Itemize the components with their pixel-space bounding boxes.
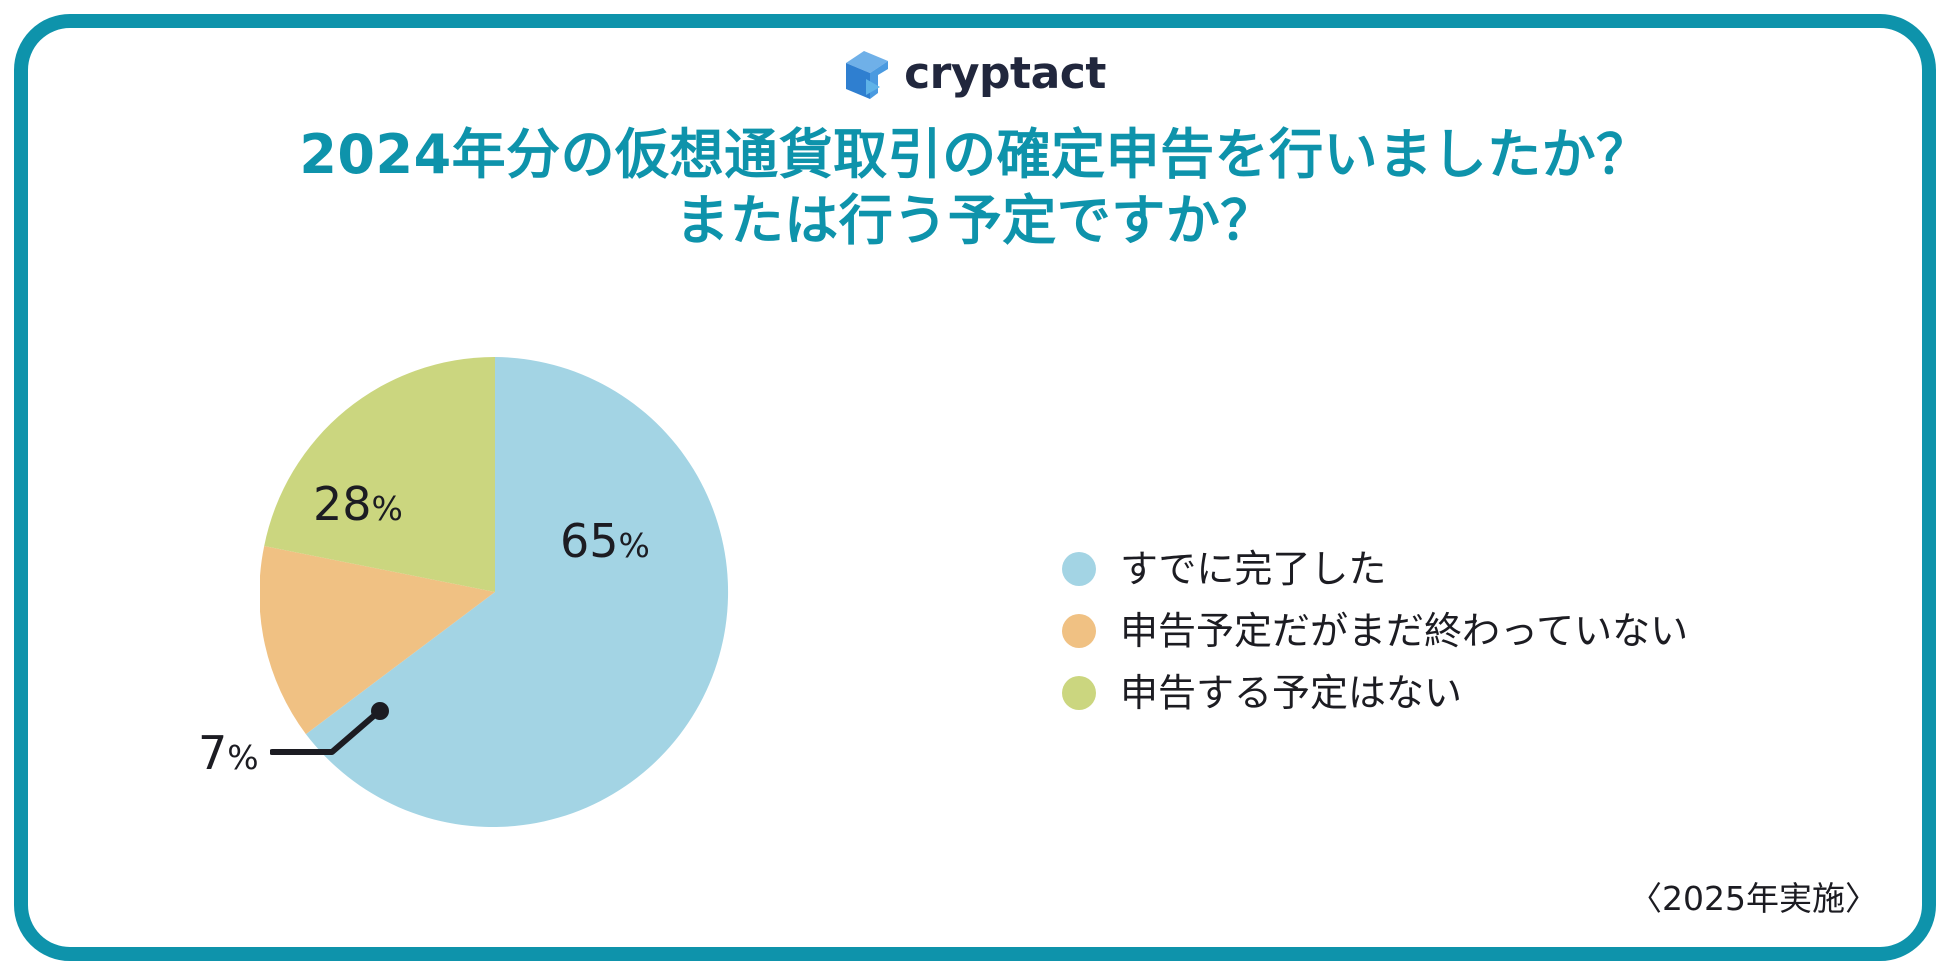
brand-wordmark: cryptact	[904, 52, 1106, 98]
legend-label-1: 申告予定だがまだ終わっていない	[1120, 612, 1688, 650]
pie-leader-line	[270, 690, 410, 800]
title-line-1: 2024年分の仮想通貨取引の確定申告を行いましたか？	[0, 122, 1950, 188]
legend-item-2[interactable]: 申告する予定はない	[1062, 662, 1782, 724]
brand-logo: cryptact	[0, 44, 1950, 106]
legend-color-swatch-icon-0	[1062, 552, 1096, 586]
chart-legend: すでに完了した 申告予定だがまだ終わっていない 申告する予定はない	[1062, 538, 1782, 724]
survey-date-note: 〈2025年実施〉	[1629, 872, 1878, 920]
legend-label-0: すでに完了した	[1120, 550, 1386, 588]
page-title: 2024年分の仮想通貨取引の確定申告を行いましたか？ または行う予定ですか？	[0, 122, 1950, 254]
pie-label-orange: 7%	[198, 730, 259, 776]
cryptact-cube-icon	[844, 49, 890, 101]
legend-color-swatch-icon-1	[1062, 614, 1096, 648]
legend-item-0[interactable]: すでに完了した	[1062, 538, 1782, 600]
legend-color-swatch-icon-2	[1062, 676, 1096, 710]
legend-label-2: 申告する予定はない	[1120, 674, 1462, 712]
legend-item-1[interactable]: 申告予定だがまだ終わっていない	[1062, 600, 1782, 662]
infographic-canvas: cryptact 2024年分の仮想通貨取引の確定申告を行いましたか？ または行…	[0, 0, 1950, 975]
title-line-2: または行う予定ですか？	[0, 188, 1950, 254]
